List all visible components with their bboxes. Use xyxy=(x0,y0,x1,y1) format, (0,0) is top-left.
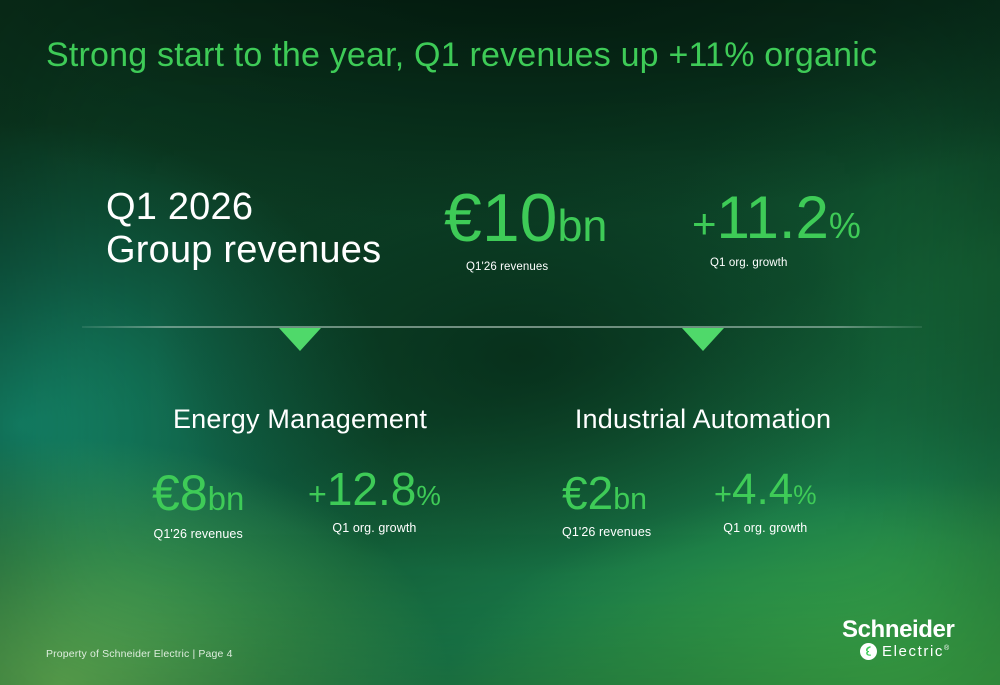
currency-symbol: € xyxy=(152,465,180,521)
background-glow-left xyxy=(0,0,1000,685)
triangle-marker-icon-energy xyxy=(279,328,321,351)
background-glow-right xyxy=(0,0,1000,685)
currency-symbol: € xyxy=(562,467,588,519)
metric-industrial-automation-growth: +4.4% Q1 org. growth xyxy=(714,468,817,535)
metric-number: 8 xyxy=(180,465,208,521)
lightning-bolt-icon xyxy=(860,643,877,660)
metric-energy-revenue-value: €8bn xyxy=(152,468,244,518)
metric-number: 12.8 xyxy=(327,463,417,515)
logo-wordmark-top: Schneider xyxy=(842,618,962,642)
currency-symbol: € xyxy=(444,180,482,256)
metric-group-growth: +11.2% Q1 org. growth xyxy=(692,188,861,269)
metric-industrial-revenue-value: €2bn xyxy=(562,470,651,516)
logo-wordmark-bottom-row: Electric® xyxy=(842,643,962,660)
metric-unit: bn xyxy=(613,483,647,516)
trademark-symbol: ® xyxy=(944,645,949,652)
logo-electric-text: Electric® xyxy=(882,644,949,659)
metric-industrial-growth-caption: Q1 org. growth xyxy=(714,521,817,535)
metric-energy-management-revenue: €8bn Q1'26 revenues xyxy=(152,468,244,541)
background-vignette xyxy=(0,0,1000,685)
metric-number: 10 xyxy=(482,180,558,256)
metric-group-revenue-caption: Q1'26 revenues xyxy=(444,261,607,273)
percent-symbol: % xyxy=(793,480,816,510)
metric-group-revenue-value: €10bn xyxy=(444,184,607,252)
section-divider xyxy=(82,326,922,328)
hero-label: Q1 2026 Group revenues xyxy=(106,186,381,272)
metric-industrial-automation-revenue: €2bn Q1'26 revenues xyxy=(562,470,651,539)
background-glow-bottom-left xyxy=(0,0,1000,685)
metric-group-growth-value: +11.2% xyxy=(692,188,861,248)
metric-number: 2 xyxy=(588,467,614,519)
hero-label-line2: Group revenues xyxy=(106,229,381,272)
schneider-electric-logo: Schneider Electric® xyxy=(842,618,962,664)
metric-unit: bn xyxy=(557,200,607,251)
metric-number: 4.4 xyxy=(732,465,793,514)
metric-number: 11.2 xyxy=(717,184,829,251)
background-shade-center xyxy=(0,0,1000,685)
hero-label-line1: Q1 2026 xyxy=(106,186,253,228)
footer-note: Property of Schneider Electric | Page 4 xyxy=(46,648,233,660)
percent-symbol: % xyxy=(829,205,861,246)
metric-energy-growth-value: +12.8% xyxy=(308,466,441,512)
metric-energy-growth-caption: Q1 org. growth xyxy=(308,521,441,535)
slide-title: Strong start to the year, Q1 revenues up… xyxy=(46,36,877,75)
segment-title-energy-management: Energy Management xyxy=(173,404,427,435)
triangle-marker-icon-industrial xyxy=(682,328,724,351)
segment-title-industrial-automation: Industrial Automation xyxy=(575,404,831,435)
background-base-gradient xyxy=(0,0,1000,685)
metric-sign: + xyxy=(692,200,717,247)
metric-sign: + xyxy=(714,476,732,511)
percent-symbol: % xyxy=(416,480,441,511)
metric-sign: + xyxy=(308,476,327,512)
metric-unit: bn xyxy=(208,480,245,517)
background-shade-top xyxy=(0,0,1000,685)
metric-industrial-revenue-caption: Q1'26 revenues xyxy=(562,525,651,539)
presentation-slide: Strong start to the year, Q1 revenues up… xyxy=(0,0,1000,685)
metric-energy-revenue-caption: Q1'26 revenues xyxy=(152,527,244,541)
background-glow-bottom-right xyxy=(0,0,1000,685)
metric-energy-management-growth: +12.8% Q1 org. growth xyxy=(308,466,441,535)
metric-group-revenue: €10bn Q1'26 revenues xyxy=(444,184,607,273)
metric-group-growth-caption: Q1 org. growth xyxy=(692,257,861,269)
metric-industrial-growth-value: +4.4% xyxy=(714,468,817,512)
